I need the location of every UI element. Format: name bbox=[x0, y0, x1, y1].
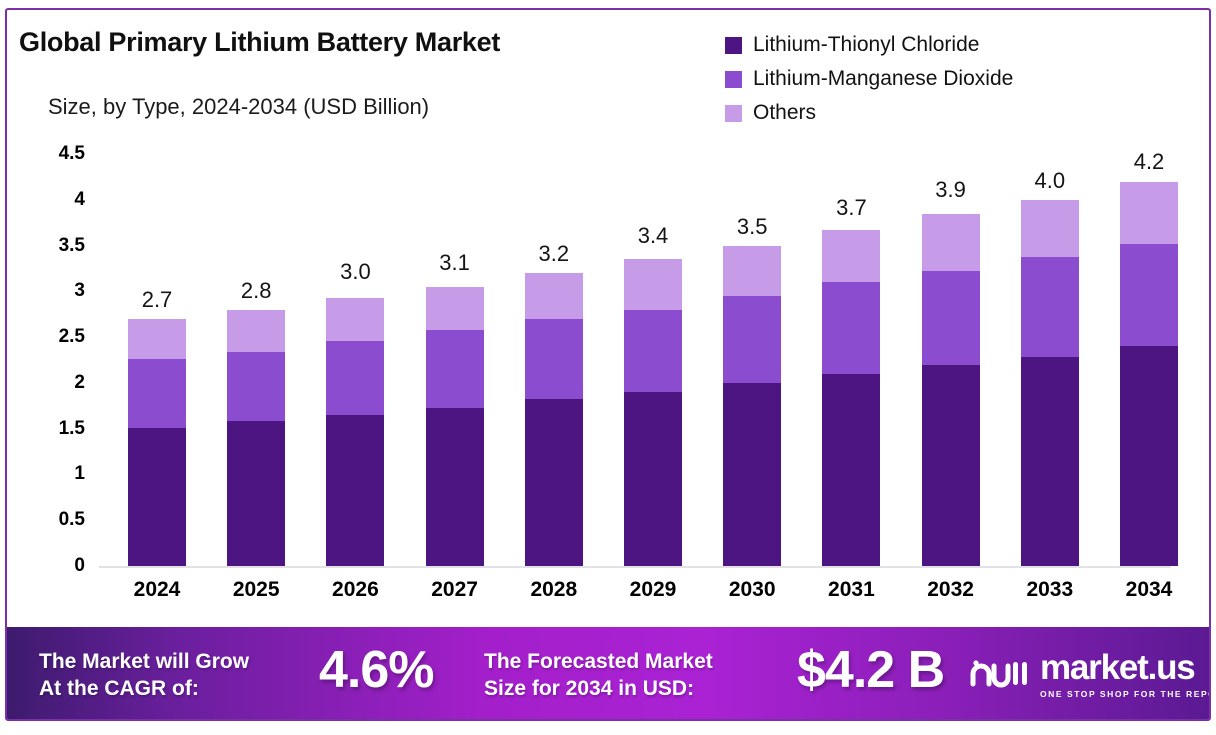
bar-total-label: 3.5 bbox=[707, 214, 797, 240]
x-axis-tick-label: 2034 bbox=[1104, 578, 1194, 602]
x-axis-tick-label: 2033 bbox=[1005, 578, 1095, 602]
bar-segment[interactable] bbox=[1021, 200, 1079, 257]
x-axis-tick-label: 2030 bbox=[707, 578, 797, 602]
y-axis-tick-label: 1 bbox=[25, 463, 85, 485]
bar-segment[interactable] bbox=[624, 310, 682, 392]
bar-segment[interactable] bbox=[624, 392, 682, 566]
bar-total-label: 3.9 bbox=[906, 177, 996, 203]
bar-column[interactable] bbox=[128, 319, 186, 566]
brand-logo-text: market.us bbox=[1040, 648, 1195, 687]
bar-segment[interactable] bbox=[227, 310, 285, 352]
bar-segment[interactable] bbox=[922, 365, 980, 566]
bar-total-label: 4.0 bbox=[1005, 168, 1095, 194]
y-axis-tick-label: 0.5 bbox=[25, 509, 85, 531]
bar-segment[interactable] bbox=[822, 374, 880, 566]
bar-total-label: 2.8 bbox=[211, 278, 301, 304]
x-axis-tick-label: 2026 bbox=[310, 578, 400, 602]
bar-segment[interactable] bbox=[723, 246, 781, 296]
bar-segment[interactable] bbox=[426, 408, 484, 566]
bar-total-label: 3.4 bbox=[608, 223, 698, 249]
x-axis-tick-label: 2027 bbox=[410, 578, 500, 602]
bar-segment[interactable] bbox=[822, 282, 880, 374]
brand-logo-tagline: ONE STOP SHOP FOR THE REPORTS bbox=[1040, 689, 1211, 699]
x-axis-tick-label: 2029 bbox=[608, 578, 698, 602]
x-axis-tick-label: 2025 bbox=[211, 578, 301, 602]
x-axis-line bbox=[99, 566, 1171, 568]
forecast-size-label-line1: The Forecasted Market bbox=[484, 649, 713, 676]
bar-segment[interactable] bbox=[525, 273, 583, 319]
bar-total-label: 4.2 bbox=[1104, 149, 1194, 175]
y-axis-tick-label: 2 bbox=[25, 372, 85, 394]
bar-total-label: 3.0 bbox=[310, 259, 400, 285]
bar-segment[interactable] bbox=[723, 383, 781, 566]
bar-segment[interactable] bbox=[1120, 244, 1178, 347]
bar-segment[interactable] bbox=[426, 330, 484, 408]
y-axis-tick-label: 4 bbox=[25, 189, 85, 211]
bar-segment[interactable] bbox=[227, 352, 285, 422]
x-axis-tick-label: 2024 bbox=[112, 578, 202, 602]
y-axis-tick-label: 1.5 bbox=[25, 418, 85, 440]
bar-column[interactable] bbox=[723, 246, 781, 566]
infographic-root: Global Primary Lithium Battery Market Si… bbox=[0, 0, 1216, 735]
bar-column[interactable] bbox=[1021, 200, 1079, 566]
bar-segment[interactable] bbox=[525, 399, 583, 566]
bar-segment[interactable] bbox=[525, 319, 583, 400]
bar-segment[interactable] bbox=[922, 214, 980, 272]
bar-segment[interactable] bbox=[1021, 357, 1079, 566]
y-axis-tick-label: 3.5 bbox=[25, 235, 85, 257]
bar-total-label: 2.7 bbox=[112, 287, 202, 313]
bar-segment[interactable] bbox=[822, 230, 880, 282]
y-axis-tick-label: 3 bbox=[25, 280, 85, 302]
bar-column[interactable] bbox=[326, 298, 384, 566]
bar-segment[interactable] bbox=[1021, 257, 1079, 358]
bar-column[interactable] bbox=[922, 214, 980, 566]
bar-total-label: 3.7 bbox=[806, 195, 896, 221]
forecast-size-label: The Forecasted Market Size for 2034 in U… bbox=[484, 649, 713, 703]
forecast-size-value: $4.2 B bbox=[797, 640, 944, 700]
bar-total-label: 3.2 bbox=[509, 241, 599, 267]
bar-segment[interactable] bbox=[128, 319, 186, 359]
bar-segment[interactable] bbox=[1120, 346, 1178, 566]
bar-segment[interactable] bbox=[1120, 182, 1178, 244]
plot-area: 00.511.522.533.544.52.720242.820253.0202… bbox=[7, 10, 1211, 630]
bar-column[interactable] bbox=[822, 230, 880, 566]
y-axis-tick-label: 4.5 bbox=[25, 143, 85, 165]
bar-segment[interactable] bbox=[128, 428, 186, 566]
x-axis-tick-label: 2031 bbox=[806, 578, 896, 602]
chart-frame: Global Primary Lithium Battery Market Si… bbox=[5, 8, 1211, 721]
y-axis-tick-label: 2.5 bbox=[25, 326, 85, 348]
bar-column[interactable] bbox=[227, 310, 285, 566]
market-us-mark-icon bbox=[970, 654, 1032, 695]
footer-banner: The Market will Grow At the CAGR of: 4.6… bbox=[7, 627, 1211, 719]
bar-column[interactable] bbox=[525, 273, 583, 566]
bar-column[interactable] bbox=[1120, 182, 1178, 567]
bar-segment[interactable] bbox=[723, 296, 781, 383]
cagr-value: 4.6% bbox=[319, 640, 434, 700]
bar-segment[interactable] bbox=[426, 287, 484, 330]
forecast-size-label-line2: Size for 2034 in USD: bbox=[484, 676, 713, 703]
bar-column[interactable] bbox=[624, 259, 682, 566]
cagr-label: The Market will Grow At the CAGR of: bbox=[39, 649, 249, 703]
y-axis-tick-label: 0 bbox=[25, 555, 85, 577]
bar-segment[interactable] bbox=[922, 271, 980, 364]
x-axis-tick-label: 2032 bbox=[906, 578, 996, 602]
bar-column[interactable] bbox=[426, 287, 484, 566]
brand-logo[interactable]: market.us ONE STOP SHOP FOR THE REPORTS bbox=[970, 650, 1211, 699]
bar-segment[interactable] bbox=[326, 415, 384, 566]
bar-segment[interactable] bbox=[326, 298, 384, 341]
cagr-label-line2: At the CAGR of: bbox=[39, 676, 249, 703]
x-axis-tick-label: 2028 bbox=[509, 578, 599, 602]
bar-segment[interactable] bbox=[326, 341, 384, 415]
bar-segment[interactable] bbox=[227, 421, 285, 566]
cagr-label-line1: The Market will Grow bbox=[39, 649, 249, 676]
bar-segment[interactable] bbox=[624, 259, 682, 309]
bar-segment[interactable] bbox=[128, 359, 186, 428]
bar-total-label: 3.1 bbox=[410, 250, 500, 276]
